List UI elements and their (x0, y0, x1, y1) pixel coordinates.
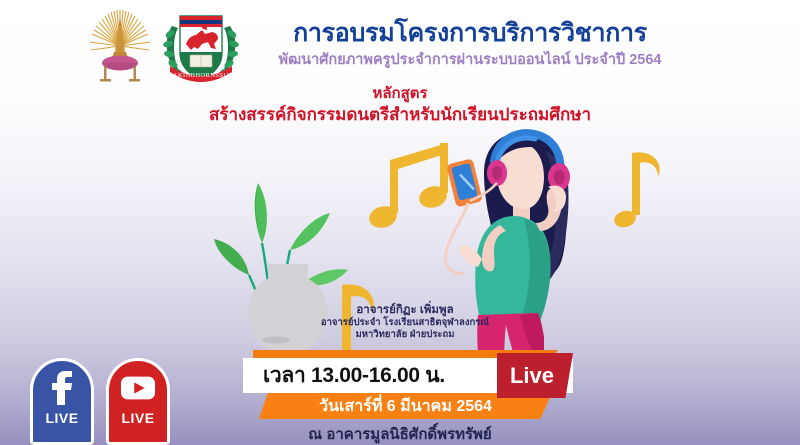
speaker-name: อาจารย์กิฏะ เพิ่มพูล (285, 303, 525, 317)
venue-text: ณ อาคารมูลนิธิศักดิ์พรทรัพย์ (0, 422, 800, 445)
speaker-role-line1: อาจารย์ประจำ โรงเรียนสาธิตจุฬาลงกรณ์ (285, 317, 525, 329)
satit-chula-school-crest-icon: SAKDIBHORNSSUB (160, 8, 242, 88)
date-text: วันเสาร์ที่ 6 มีนาคม 2564 (319, 394, 492, 419)
logo-group: SAKDIBHORNSSUB (84, 6, 244, 88)
speaker-role-line2: มหาวิทยาลัย ฝ่ายประถม (285, 329, 525, 341)
page-subtitle: พัฒนาศักยภาพครูประจำการผ่านระบบออนไลน์ ป… (250, 50, 690, 70)
svg-text:SAKDIBHORNSSUB: SAKDIBHORNSSUB (169, 72, 234, 79)
live-chip-label: Live (510, 363, 554, 389)
live-chip[interactable]: Live (497, 353, 573, 398)
facebook-f-icon (44, 370, 80, 406)
chulalongkorn-university-emblem-icon (84, 6, 156, 88)
smartphone-icon (446, 158, 483, 207)
music-note-icon (612, 152, 659, 229)
course-label: หลักสูตร (0, 84, 800, 103)
youtube-play-icon (120, 370, 156, 406)
poster-header: SAKDIBHORNSSUB การอบรมโครงการบริการวิชาก… (0, 0, 800, 130)
time-text: เวลา 13.00-16.00 น. (263, 359, 445, 392)
speaker-info: อาจารย์กิฏะ เพิ่มพูล อาจารย์ประจำ โรงเรี… (285, 303, 525, 341)
music-note-icon (367, 143, 449, 231)
potted-plant-icon (214, 183, 348, 370)
course-name: สร้างสรรค์กิจกรรมดนตรีสำหรับนักเรียนประถ… (0, 104, 800, 126)
title-block: การอบรมโครงการบริการวิชาการ พัฒนาศักยภาพ… (250, 18, 690, 70)
page-title: การอบรมโครงการบริการวิชาการ (250, 18, 690, 48)
poster-canvas: SAKDIBHORNSSUB การอบรมโครงการบริการวิชาก… (0, 0, 800, 445)
